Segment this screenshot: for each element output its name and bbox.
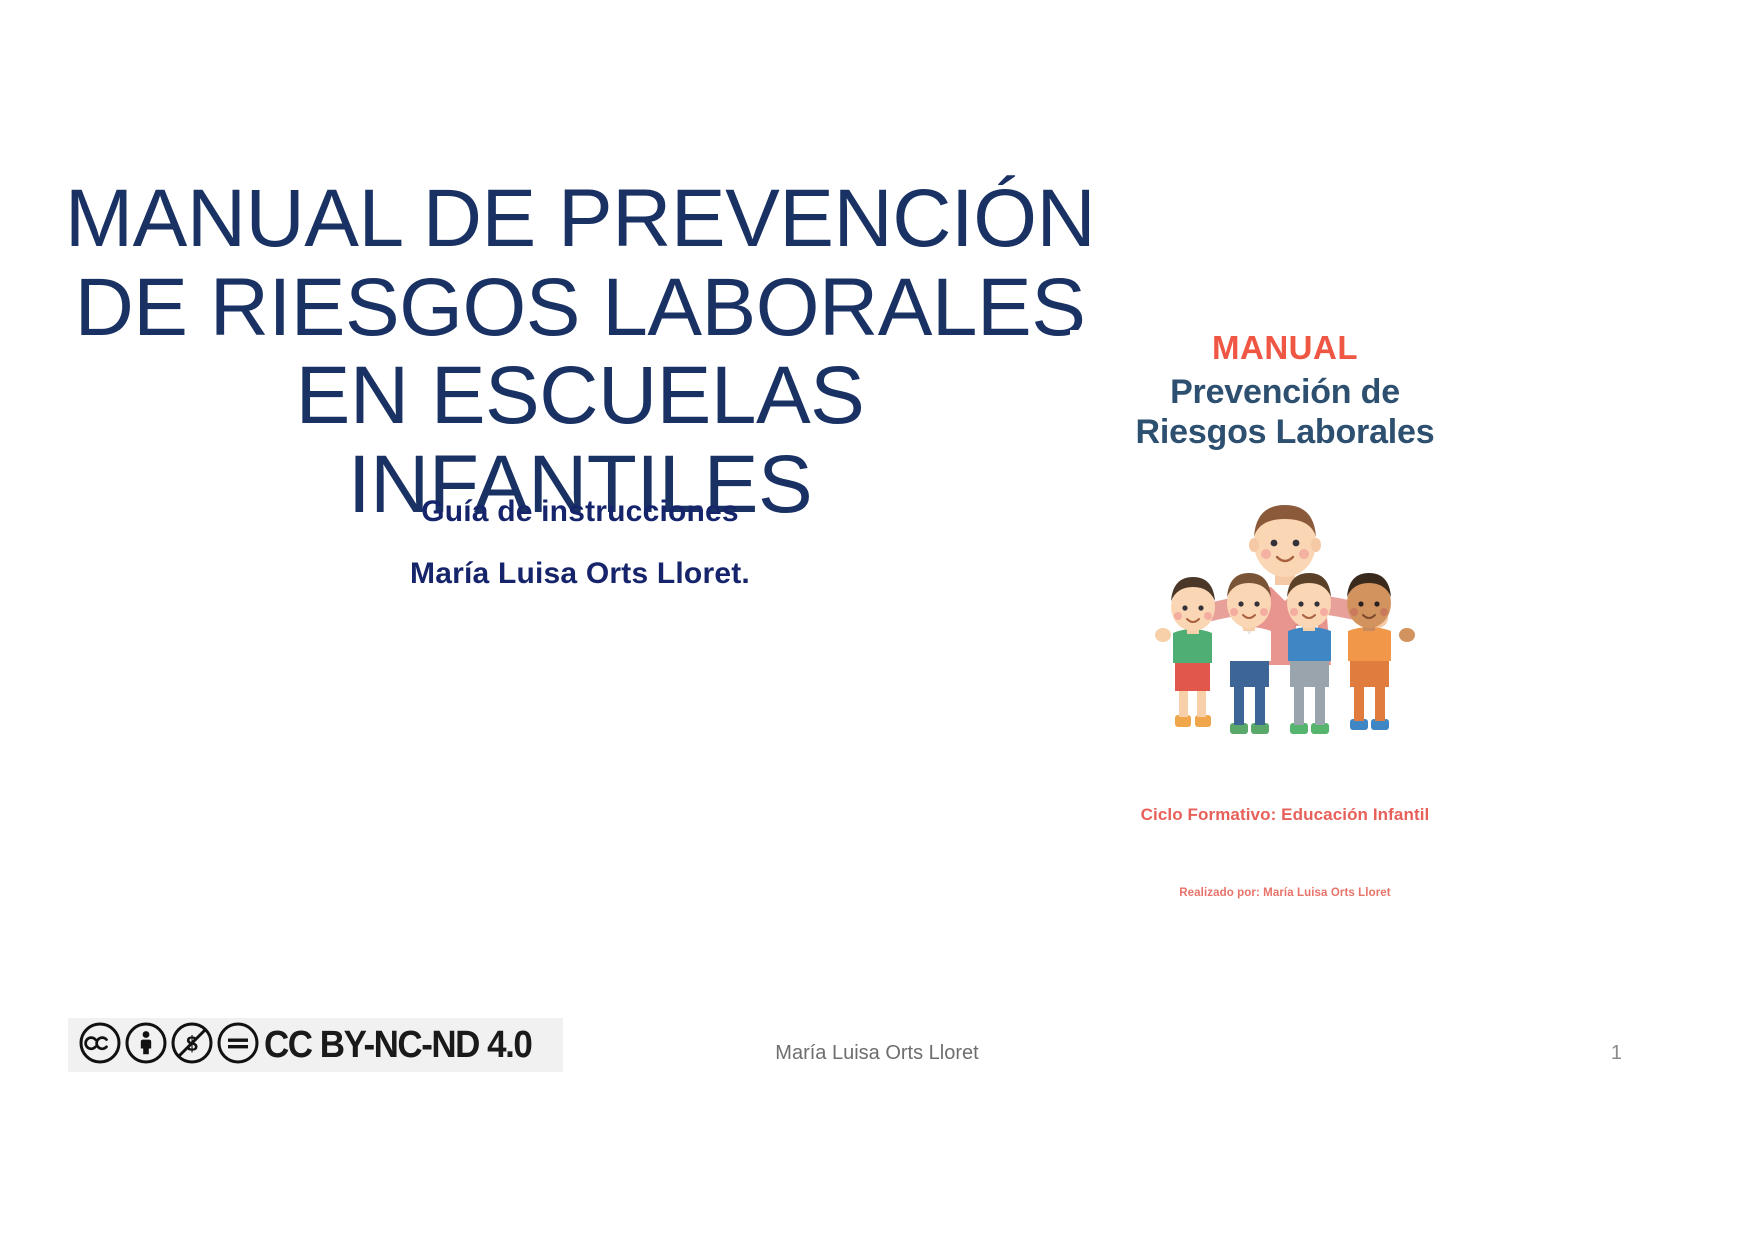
cover-title-line-2: Riesgos Laborales <box>1070 412 1500 452</box>
slide-canvas: MANUAL DE PREVENCIÓN DE RIESGOS LABORALE… <box>0 0 1754 1240</box>
subtitle-author: María Luisa Orts Lloret. <box>60 557 1100 591</box>
cover-manual-label: MANUAL <box>1070 330 1500 366</box>
cover-credit: Realizado por: María Luisa Orts Lloret <box>1070 887 1500 899</box>
subtitle-guide: Guía de instrucciones <box>60 495 1100 529</box>
teacher-with-children-illustration <box>1135 475 1435 775</box>
cover-caption: Ciclo Formativo: Educación Infantil <box>1070 805 1500 825</box>
title-block: MANUAL DE PREVENCIÓN DE RIESGOS LABORALE… <box>60 175 1100 529</box>
subtitle-block: Guía de instrucciones María Luisa Orts L… <box>60 495 1100 591</box>
cover-image: MANUAL Prevención de Riesgos Laborales <box>1070 330 1500 980</box>
page-title: MANUAL DE PREVENCIÓN DE RIESGOS LABORALE… <box>60 175 1100 529</box>
footer-page-number: 1 <box>1611 1042 1622 1065</box>
cover-title-line-1: Prevención de <box>1070 372 1500 412</box>
footer-author: María Luisa Orts Lloret <box>0 1042 1754 1065</box>
